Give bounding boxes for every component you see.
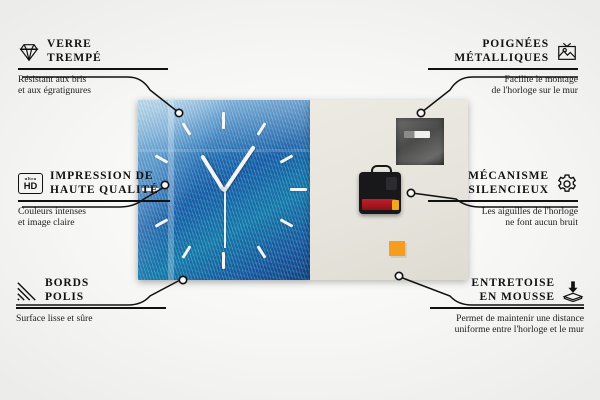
tick-mark — [280, 154, 294, 163]
infographic-canvas: VERRE TREMPÉ Résistant aux bris et aux é… — [0, 0, 600, 400]
diagonal-lines-icon — [16, 280, 38, 302]
callout-title: MÉCANISME SILENCIEUX — [468, 170, 549, 197]
callout-bords-polis[interactable]: BORDS POLIS Surface lisse et sûre — [16, 277, 166, 324]
callout-entretoise-en-mousse[interactable]: ENTRETOISE EN MOUSSE Permet de maintenir… — [430, 277, 584, 335]
callout-description: Surface lisse et sûre — [16, 313, 166, 324]
press-down-foam-icon — [562, 280, 584, 302]
callout-rule — [430, 307, 584, 309]
diamond-icon — [18, 41, 40, 63]
foam-spacer — [389, 241, 405, 256]
callout-rule — [428, 200, 578, 202]
tick-mark — [155, 154, 169, 163]
battery — [362, 199, 396, 210]
clock-hour-hand — [200, 154, 226, 192]
tick-mark — [257, 245, 267, 258]
tick-mark — [280, 218, 294, 227]
callout-verre-trempe[interactable]: VERRE TREMPÉ Résistant aux bris et aux é… — [18, 38, 168, 96]
callout-description: Facilite le montage de l'horloge sur le … — [428, 74, 578, 97]
callout-poignees-metalliques[interactable]: POIGNÉES MÉTALLIQUES Facilite le montage… — [428, 38, 578, 96]
callout-title: VERRE TREMPÉ — [47, 38, 102, 65]
clock-center-cap — [222, 187, 227, 192]
clock-second-hand — [224, 190, 226, 248]
clock-minute-hand — [222, 145, 256, 192]
tick-mark — [182, 122, 192, 135]
picture-frame-hook-icon — [556, 41, 578, 63]
tick-mark — [290, 188, 307, 191]
callout-title: IMPRESSION DE HAUTE QUALITÉ — [50, 170, 159, 197]
product-photo — [138, 100, 468, 280]
tick-mark — [257, 122, 267, 135]
callout-title: ENTRETOISE EN MOUSSE — [471, 277, 555, 304]
callout-rule — [16, 307, 166, 309]
tick-mark — [222, 252, 225, 269]
badge-hd-label: HD — [24, 181, 38, 190]
callout-impression-haute-qualite[interactable]: ultra HD IMPRESSION DE HAUTE QUALITÉ Cou… — [18, 170, 170, 228]
callout-rule — [18, 200, 170, 202]
callout-mecanisme-silencieux[interactable]: MÉCANISME SILENCIEUX Les aiguilles de l'… — [428, 170, 578, 228]
hanger-slot — [404, 131, 430, 138]
gear-icon — [556, 173, 578, 195]
callout-description: Permet de maintenir une distance uniform… — [430, 313, 584, 336]
callout-description: Résistant aux bris et aux égratignures — [18, 74, 168, 97]
clock-movement — [359, 172, 401, 214]
callout-description: Couleurs intenses et image claire — [18, 206, 170, 229]
battery-plus-terminal — [392, 200, 399, 210]
callout-title: BORDS POLIS — [45, 277, 89, 304]
callout-title: POIGNÉES MÉTALLIQUES — [454, 38, 549, 65]
tick-mark — [222, 112, 225, 129]
movement-dial — [386, 177, 397, 190]
ultra-hd-badge-icon: ultra HD — [18, 173, 43, 194]
movement-hanging-loop — [371, 165, 392, 177]
callout-rule — [428, 68, 578, 70]
callout-description: Les aiguilles de l'horloge ne font aucun… — [428, 206, 578, 229]
tick-mark — [182, 245, 192, 258]
callout-rule — [18, 68, 168, 70]
metal-hanger — [396, 118, 444, 165]
